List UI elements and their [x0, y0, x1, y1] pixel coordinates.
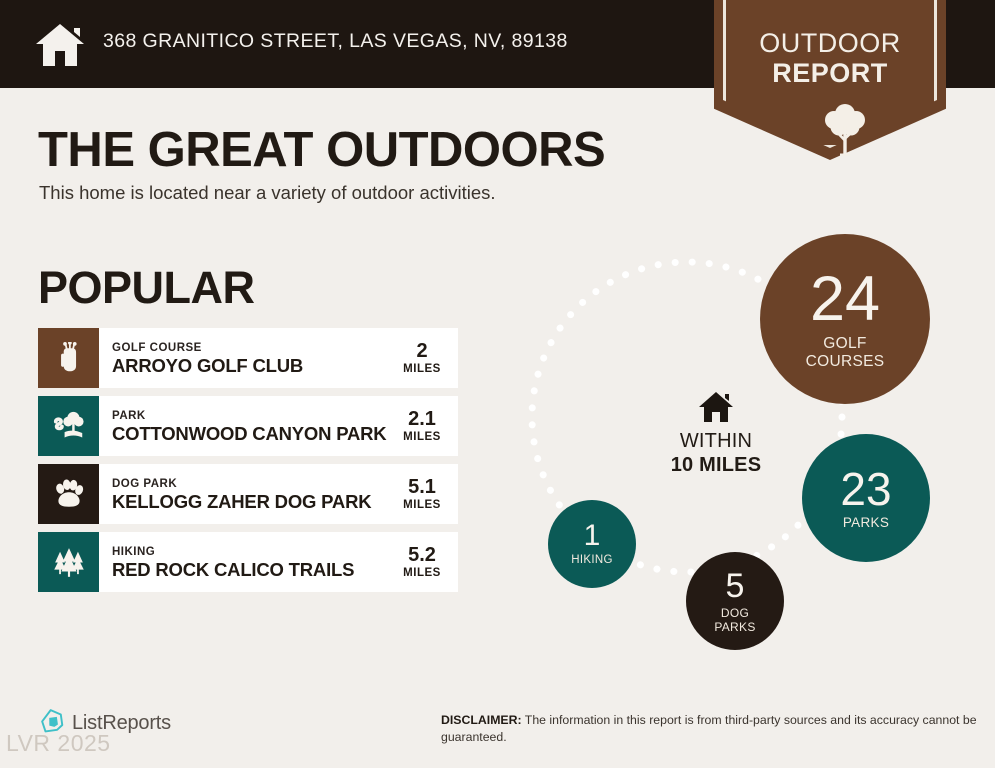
list-item-name: RED ROCK CALICO TRAILS: [112, 559, 394, 580]
disclaimer-text: The information in this report is from t…: [441, 713, 977, 744]
list-item[interactable]: HIKING RED ROCK CALICO TRAILS 5.2 MILES: [38, 532, 458, 592]
list-item-category: HIKING: [112, 545, 394, 559]
list-item-distance: 5.2 MILES: [394, 532, 458, 592]
list-item-distance: 2.1 MILES: [394, 396, 458, 456]
list-item-text: GOLF COURSE ARROYO GOLF CLUB: [99, 328, 394, 388]
property-address: 368 GRANITICO STREET, LAS VEGAS, NV, 891…: [103, 30, 568, 53]
paw-print-icon: [38, 464, 99, 524]
home-icon: [34, 20, 86, 68]
pine-trees-icon: [38, 532, 99, 592]
bubble-label: HIKING: [571, 554, 612, 567]
list-item-category: PARK: [112, 409, 394, 423]
bubble-value: 23: [840, 466, 891, 512]
list-item[interactable]: DOG PARK KELLOGG ZAHER DOG PARK 5.1 MILE…: [38, 464, 458, 524]
badge-line-2: REPORT: [714, 58, 946, 89]
disclaimer: DISCLAIMER: The information in this repo…: [441, 712, 986, 746]
distance-unit: MILES: [403, 566, 441, 580]
bubble-value: 5: [726, 569, 745, 603]
list-item-distance: 5.1 MILES: [394, 464, 458, 524]
bubble-parks[interactable]: 23 PARKS: [802, 434, 930, 562]
popular-heading: POPULAR: [38, 262, 255, 314]
home-icon: [698, 390, 734, 424]
list-item-category: DOG PARK: [112, 477, 394, 491]
list-item-name: ARROYO GOLF CLUB: [112, 355, 394, 376]
distance-unit: MILES: [403, 362, 441, 376]
page-subtitle: This home is located near a variety of o…: [39, 182, 496, 204]
bubble-label: PARKS: [843, 515, 889, 530]
list-item[interactable]: GOLF COURSE ARROYO GOLF CLUB 2 MILES: [38, 328, 458, 388]
bubble-golf-courses[interactable]: 24 GOLF COURSES: [760, 234, 930, 404]
distance-unit: MILES: [403, 498, 441, 512]
outdoor-report-badge: OUTDOOR REPORT: [714, 0, 946, 160]
outdoor-report-page: 368 GRANITICO STREET, LAS VEGAS, NV, 891…: [0, 0, 995, 768]
diagram-center-line-2: 10 MILES: [626, 454, 806, 477]
bubble-value: 24: [810, 268, 880, 331]
bubble-hiking[interactable]: 1 HIKING: [548, 500, 636, 588]
list-item-distance: 2 MILES: [394, 328, 458, 388]
tree-icon: [817, 100, 873, 156]
distance-value: 2.1: [408, 409, 436, 430]
watermark: LVR 2025: [6, 730, 111, 757]
distance-value: 5.1: [408, 477, 436, 498]
list-item[interactable]: PARK COTTONWOOD CANYON PARK 2.1 MILES: [38, 396, 458, 456]
page-title: THE GREAT OUTDOORS: [38, 122, 605, 178]
distance-value: 2: [416, 341, 427, 362]
list-item-text: DOG PARK KELLOGG ZAHER DOG PARK: [99, 464, 394, 524]
bubble-label-line-2: COURSES: [806, 353, 885, 371]
bubble-dog-parks[interactable]: 5 DOG PARKS: [686, 552, 784, 650]
list-item-name: COTTONWOOD CANYON PARK: [112, 423, 394, 444]
within-10-miles-diagram: WITHIN 10 MILES 24 GOLF COURSES 23 PARKS…: [508, 222, 948, 662]
bubble-label-line-1: DOG: [714, 606, 755, 620]
park-tree-icon: [38, 396, 99, 456]
list-item-name: KELLOGG ZAHER DOG PARK: [112, 491, 394, 512]
bubble-label-line-1: GOLF: [806, 335, 885, 353]
golf-bag-icon: [38, 328, 99, 388]
popular-list: GOLF COURSE ARROYO GOLF CLUB 2 MILES: [38, 328, 458, 600]
distance-value: 5.2: [408, 545, 436, 566]
list-item-category: GOLF COURSE: [112, 341, 394, 355]
bubble-label-line-2: PARKS: [714, 620, 755, 634]
bubble-label: DOG PARKS: [714, 606, 755, 634]
badge-line-1: OUTDOOR: [714, 28, 946, 59]
bubble-value: 1: [584, 521, 601, 551]
list-item-text: PARK COTTONWOOD CANYON PARK: [99, 396, 394, 456]
bubble-label: GOLF COURSES: [806, 335, 885, 371]
distance-unit: MILES: [403, 430, 441, 444]
disclaimer-label: DISCLAIMER:: [441, 713, 522, 727]
diagram-center-line-1: WITHIN: [626, 430, 806, 453]
list-item-text: HIKING RED ROCK CALICO TRAILS: [99, 532, 394, 592]
